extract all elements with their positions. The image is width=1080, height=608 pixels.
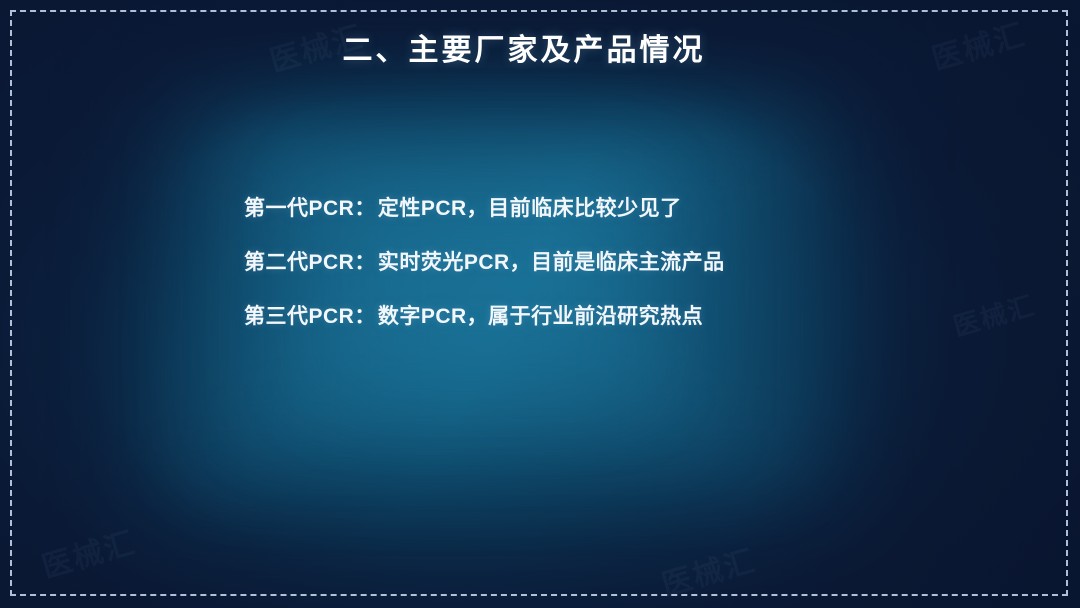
list-item: 第三代PCR：数字PCR，属于行业前沿研究热点: [244, 306, 884, 327]
list-item-description: 数字PCR，属于行业前沿研究热点: [378, 305, 703, 328]
presentation-slide: 医械汇 医械汇 医械汇 医械汇 医械汇 二、主要厂家及产品情况 第一代PCR：定…: [0, 0, 1080, 608]
slide-body-list: 第一代PCR：定性PCR，目前临床比较少见了 第二代PCR：实时荧光PCR，目前…: [244, 198, 884, 327]
list-item: 第一代PCR：定性PCR，目前临床比较少见了: [244, 198, 884, 219]
slide-title: 二、主要厂家及产品情况: [0, 25, 1048, 69]
list-item-label: 第三代PCR：: [244, 305, 376, 328]
list-item-label: 第二代PCR：: [244, 251, 376, 274]
list-item: 第二代PCR：实时荧光PCR，目前是临床主流产品: [244, 252, 884, 273]
list-item-description: 定性PCR，目前临床比较少见了: [378, 197, 682, 220]
list-item-description: 实时荧光PCR，目前是临床主流产品: [378, 251, 725, 274]
list-item-label: 第一代PCR：: [244, 197, 376, 220]
